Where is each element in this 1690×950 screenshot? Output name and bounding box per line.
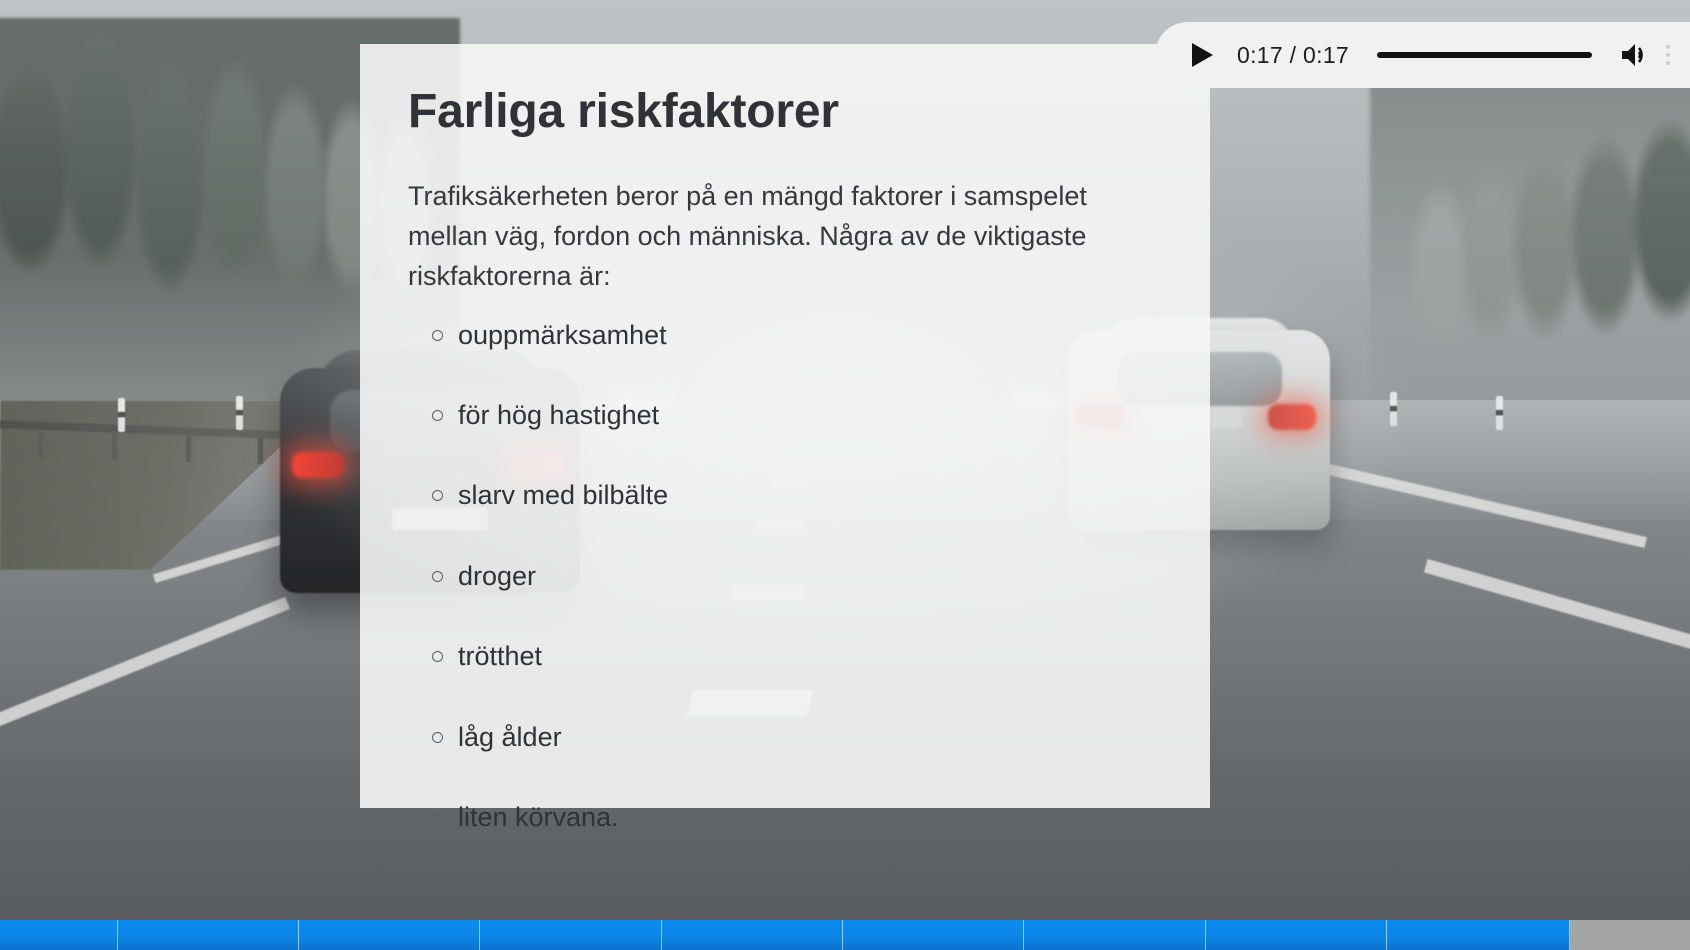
content-card: Farliga riskfaktorer Trafiksäkerheten be… xyxy=(360,44,1210,808)
play-button[interactable] xyxy=(1189,41,1237,69)
delineator-post xyxy=(118,398,125,432)
list-item: för hög hastighet xyxy=(428,399,1166,431)
list-item: trötthet xyxy=(428,640,1166,672)
delineator-post xyxy=(1496,396,1503,430)
delineator-post xyxy=(236,396,243,430)
chapter-progress-bar[interactable] xyxy=(0,920,1690,950)
chapter-segment[interactable] xyxy=(1024,920,1206,950)
play-icon xyxy=(1189,41,1215,69)
list-item: låg ålder xyxy=(428,721,1166,753)
dot-icon xyxy=(1666,45,1670,49)
time-display: 0:17 / 0:17 xyxy=(1237,42,1349,69)
intro-paragraph: Trafiksäkerheten beror på en mängd fakto… xyxy=(408,177,1098,297)
volume-icon xyxy=(1620,42,1650,68)
media-player-controls: 0:17 / 0:17 xyxy=(1155,22,1690,88)
dot-icon xyxy=(1666,61,1670,65)
guardrail-post xyxy=(38,432,43,458)
white-car-taillight-right xyxy=(1268,404,1316,430)
volume-button[interactable] xyxy=(1620,42,1664,68)
chapter-segment[interactable] xyxy=(118,920,299,950)
list-item: ouppmärksamhet xyxy=(428,319,1166,351)
chapter-segment[interactable] xyxy=(1206,920,1387,950)
list-item: liten körvana. xyxy=(428,801,1166,833)
risk-factor-list: ouppmärksamhet för hög hastighet slarv m… xyxy=(408,319,1166,834)
dot-icon xyxy=(1666,53,1670,57)
delineator-post xyxy=(1390,392,1397,426)
chapter-segment[interactable] xyxy=(480,920,662,950)
guardrail-post xyxy=(186,436,191,462)
chapter-segment[interactable] xyxy=(1570,920,1690,950)
more-options-button[interactable] xyxy=(1664,39,1680,71)
chapter-segment[interactable] xyxy=(0,920,118,950)
list-item: droger xyxy=(428,560,1166,592)
forest-right xyxy=(1370,60,1690,420)
chapter-segment[interactable] xyxy=(299,920,480,950)
dark-car-taillight-left xyxy=(292,452,344,478)
guardrail-post xyxy=(112,434,117,460)
chapter-segment[interactable] xyxy=(662,920,843,950)
chapter-segment[interactable] xyxy=(1387,920,1570,950)
page-title: Farliga riskfaktorer xyxy=(408,86,1166,139)
list-item: slarv med bilbälte xyxy=(428,479,1166,511)
seek-bar[interactable] xyxy=(1377,52,1592,58)
chapter-segment[interactable] xyxy=(843,920,1024,950)
guardrail-post xyxy=(258,438,263,464)
slide-stage: Farliga riskfaktorer Trafiksäkerheten be… xyxy=(0,0,1690,950)
